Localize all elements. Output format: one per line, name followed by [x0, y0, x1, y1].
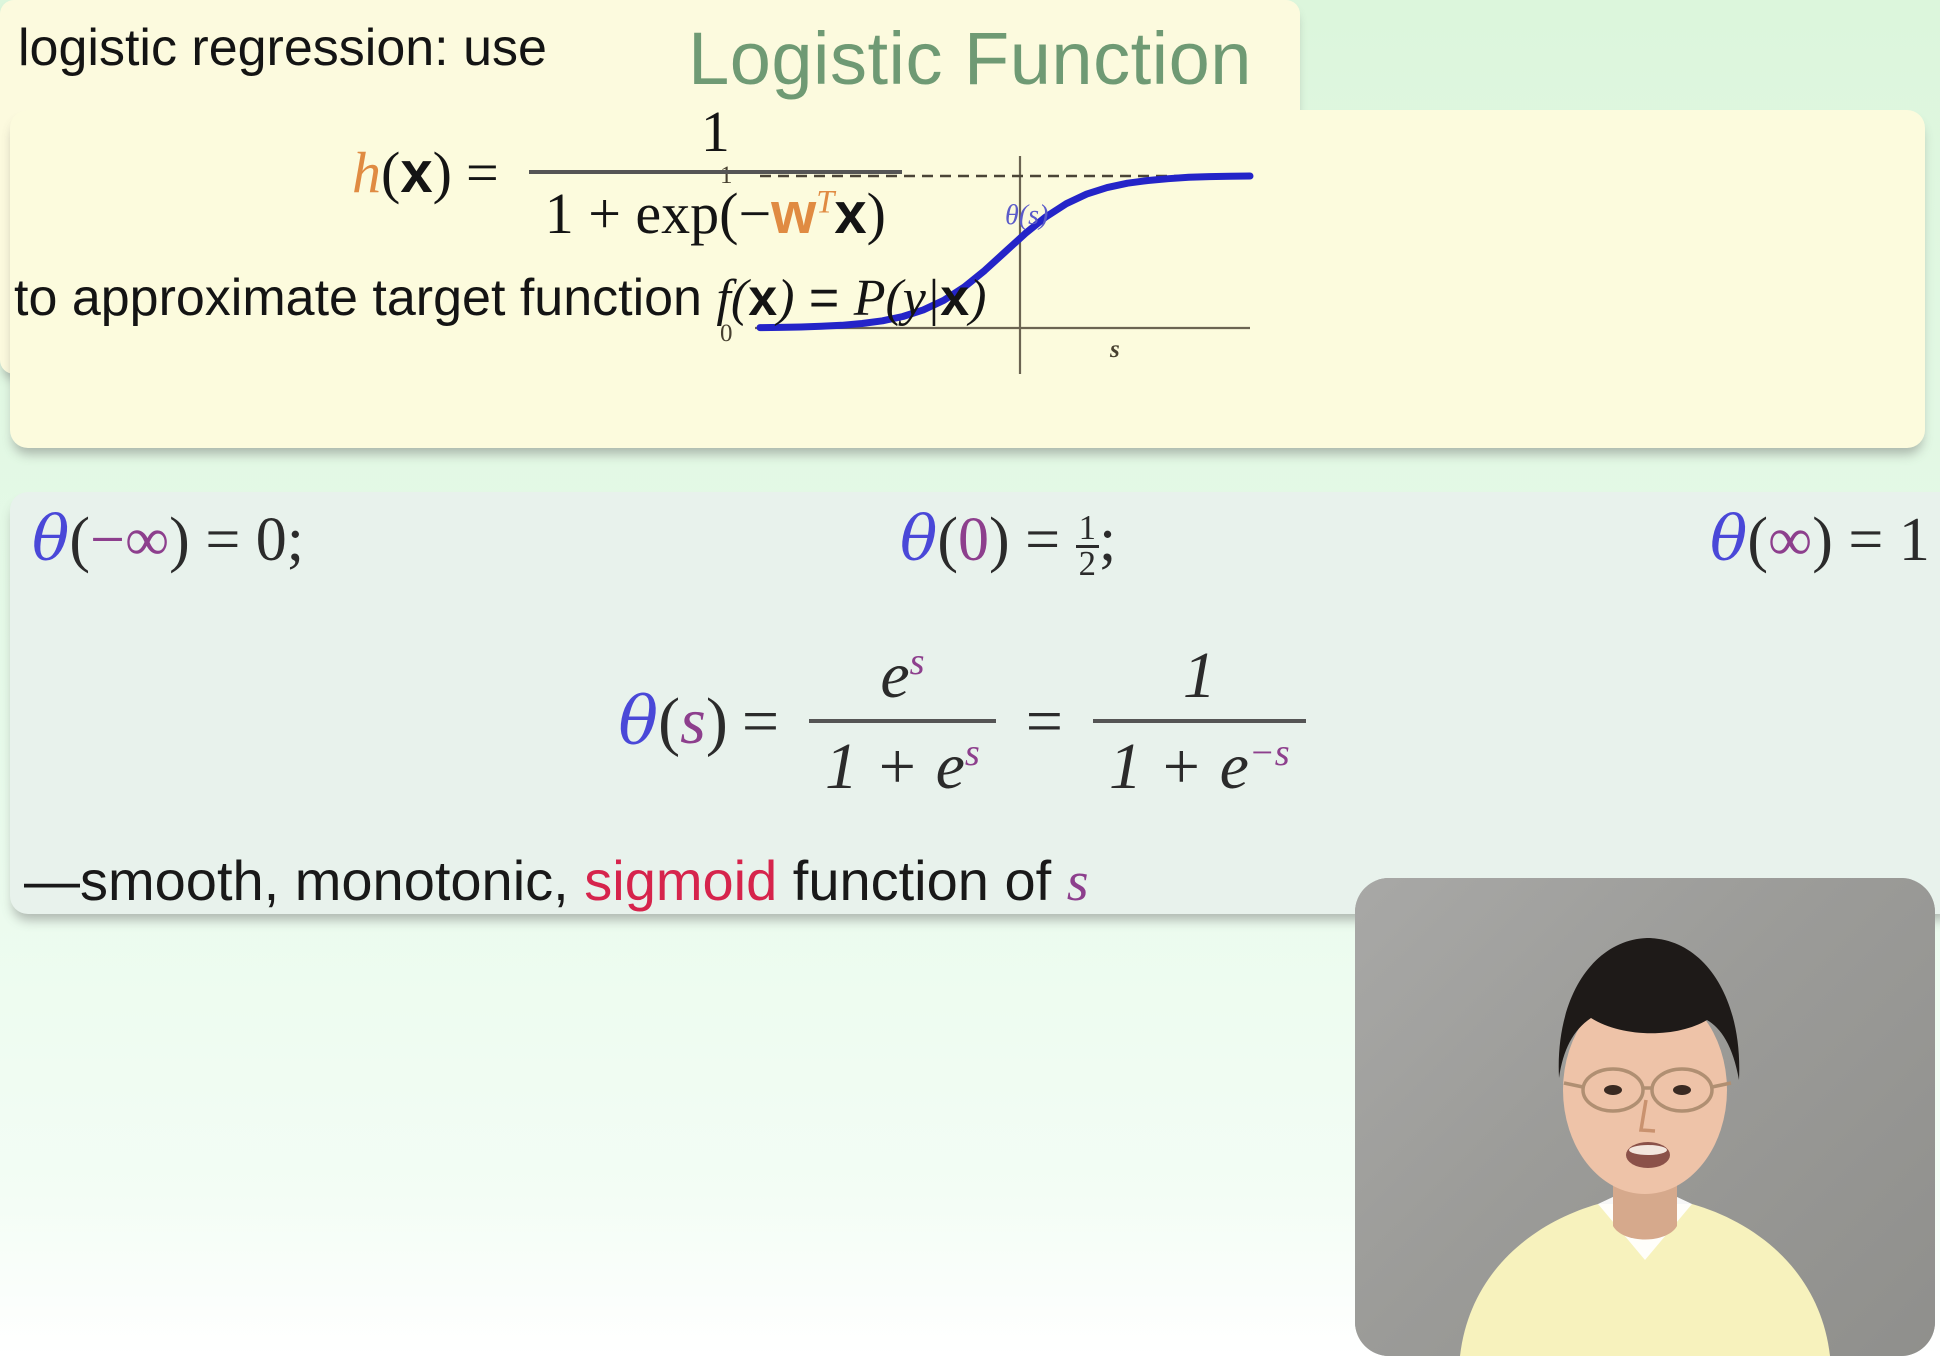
theta-symbol: θ: [900, 502, 937, 575]
x-vector: x: [834, 181, 866, 246]
limit-positive-infinity: θ(∞) = 1: [1710, 502, 1930, 576]
close-paren-2: ): [969, 270, 986, 327]
fraction-denominator: 1 + es: [809, 719, 996, 804]
equals-sign: =: [466, 139, 499, 206]
limit-value: 1: [1899, 506, 1930, 574]
probability-symbol: P: [854, 270, 886, 327]
conditional-bar: |: [926, 270, 940, 327]
s-variable: s: [1067, 851, 1089, 913]
fraction-numerator: es: [864, 640, 940, 719]
close-paren: ): [989, 506, 1010, 574]
fraction-denominator: 1 + exp(−wTx): [529, 170, 902, 246]
theta-symbol: θ: [1710, 502, 1747, 575]
equals-sign-1: =: [742, 684, 779, 760]
close-paren: ): [1812, 506, 1833, 574]
logistic-regression-heading: logistic regression: use: [18, 18, 547, 78]
sigmoid-description: —smooth, monotonic, sigmoid function of …: [24, 848, 1089, 914]
open-paren: (: [658, 684, 680, 760]
semicolon: ;: [287, 506, 304, 574]
f-symbol: f: [716, 270, 730, 327]
close-paren: ): [867, 181, 886, 246]
open-paren: (: [1747, 506, 1768, 574]
limit-negative-infinity: θ(−∞) = 0;: [32, 502, 304, 576]
fraction-numerator: 1: [1076, 512, 1099, 545]
limits-row: θ(−∞) = 0; θ(0) = 12; θ(∞) = 1: [10, 492, 1940, 602]
s-variable: s: [680, 684, 706, 760]
line3-prefix: to approximate target function: [14, 269, 716, 327]
description-prefix: —smooth, monotonic,: [24, 849, 584, 912]
transpose-superscript: T: [816, 184, 834, 220]
fraction-denominator: 2: [1076, 545, 1099, 581]
open-paren: (: [937, 506, 958, 574]
limit-at-zero: θ(0) = 12;: [900, 502, 1116, 581]
x-vector: x: [400, 139, 432, 206]
s-exponent: s: [910, 641, 925, 683]
equals-sign: =: [1025, 506, 1060, 574]
hypothesis-fraction: 1 1 + exp(−wTx): [529, 100, 902, 246]
e-base: e: [1220, 730, 1249, 803]
close-paren: ): [433, 139, 452, 206]
h-symbol: h: [352, 139, 381, 206]
open-paren: (: [381, 139, 400, 206]
close-paren: ): [169, 506, 190, 574]
left-eye: [1604, 1085, 1622, 1095]
semicolon: ;: [1099, 506, 1116, 574]
negative-s-exponent: −s: [1249, 732, 1290, 774]
equals-sign-2: =: [1026, 684, 1063, 760]
limit-argument: 0: [958, 506, 989, 574]
teeth: [1629, 1145, 1667, 1155]
limit-argument: ∞: [1768, 506, 1812, 574]
theta-symbol: θ: [32, 502, 69, 575]
exp-prefix: 1 + exp(−: [545, 181, 771, 246]
open-paren: (: [69, 506, 90, 574]
open-paren-2: (: [885, 270, 902, 327]
e-base: e: [936, 730, 965, 803]
exp-fraction: es 1 + es: [809, 640, 996, 803]
x-vector: x: [748, 269, 777, 327]
one-half-fraction: 12: [1076, 512, 1099, 581]
slide-root: Logistic Function 1 0 s θ(s) θ(−∞): [0, 0, 1940, 1356]
one-plus: 1 +: [825, 730, 936, 803]
x-axis-label: s: [1110, 336, 1120, 364]
sigmoid-definition-formula: θ(s) = es 1 + es = 1 1 + e−s: [0, 640, 1940, 803]
description-suffix: function of: [777, 849, 1067, 912]
page-title: Logistic Function: [688, 16, 1252, 101]
e-base: e: [880, 639, 909, 712]
fraction-denominator: 1 + e−s: [1093, 719, 1306, 804]
presenter-video-overlay[interactable]: [1355, 878, 1935, 1356]
y-variable: y: [903, 270, 926, 327]
target-function-line: to approximate target function f(x) = P(…: [14, 268, 986, 328]
close-paren: ): [706, 684, 728, 760]
one-plus: 1 +: [1109, 730, 1220, 803]
presenter-figure: [1355, 878, 1935, 1356]
limit-value: 0: [256, 506, 287, 574]
fraction-numerator: 1: [1167, 640, 1232, 719]
hypothesis-formula: h(x) = 1 1 + exp(−wTx): [0, 100, 1270, 246]
x-vector-2: x: [940, 269, 969, 327]
s-exponent: s: [965, 732, 980, 774]
fraction-numerator: 1: [685, 100, 746, 170]
equals-sign: =: [1848, 506, 1883, 574]
equals-sign: =: [205, 506, 240, 574]
theta-symbol: θ: [618, 683, 658, 760]
reciprocal-fraction: 1 1 + e−s: [1093, 640, 1306, 803]
right-eye: [1673, 1085, 1691, 1095]
open-paren: (: [731, 270, 748, 327]
w-vector: w: [771, 181, 816, 246]
limit-argument: −∞: [90, 506, 169, 574]
sigmoid-keyword: sigmoid: [584, 849, 777, 912]
close-paren: ): [777, 270, 794, 327]
equals-sign: =: [794, 269, 853, 327]
